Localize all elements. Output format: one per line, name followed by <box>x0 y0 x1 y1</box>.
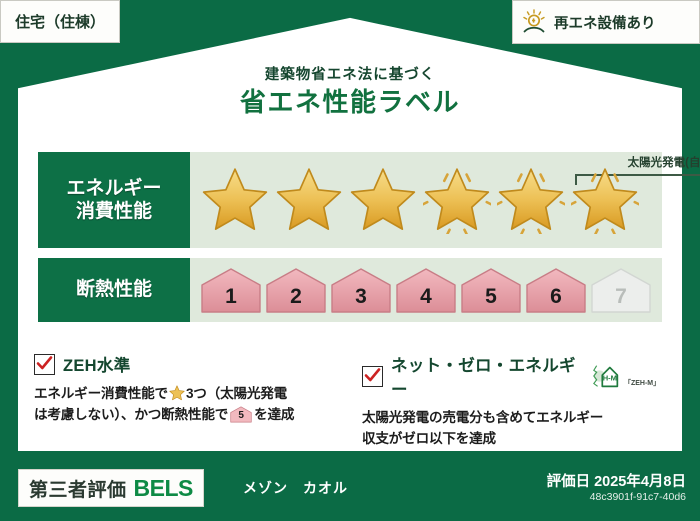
house-inline-icon: 5 <box>230 406 252 423</box>
star-filled <box>346 152 420 248</box>
insulation-performance-body: 1 2 3 4 5 <box>190 258 662 322</box>
net-zero-energy-section: ネット・ゼロ・エネルギー H-M 「ZEH-M」 太陽光発電の売電分も含めてエネ… <box>362 352 658 449</box>
star-filled <box>198 152 272 248</box>
solar-sun-icon <box>521 9 547 35</box>
building-type-badge: 住宅（住棟） <box>0 0 120 43</box>
building-type-label: 住宅（住棟） <box>15 11 105 32</box>
star-filled-pv <box>494 152 568 248</box>
building-name: メゾン カオル <box>243 478 348 498</box>
insulation-grade-badge: 1 <box>200 267 262 314</box>
zeh-standard-section: ZEH水準 エネルギー消費性能で3つ（太陽光発電 は考慮しない）、かつ断熱性能で… <box>34 352 330 425</box>
net-zero-energy-header: ネット・ゼロ・エネルギー H-M 「ZEH-M」 <box>362 352 658 400</box>
zeh-standard-title: ZEH水準 <box>63 352 131 376</box>
energy-performance-row: エネルギー 消費性能 太陽光発電(自家消費)分 <box>38 152 662 248</box>
label-subtitle: 建築物省エネ法に基づく <box>0 63 700 84</box>
star-inline-icon <box>169 385 185 401</box>
star-filled <box>272 152 346 248</box>
evaluation-date: 評価日 2025年4月8日 <box>547 470 686 491</box>
zeh-standard-description: エネルギー消費性能で3つ（太陽光発電 は考慮しない）、かつ断熱性能で5を達成 <box>34 383 330 425</box>
insulation-grade-badge: 5 <box>460 267 522 314</box>
insulation-grade-badge: 4 <box>395 267 457 314</box>
insulation-grade-badge: 6 <box>525 267 587 314</box>
insulation-performance-row: 断熱性能 1 2 3 <box>38 258 662 322</box>
insulation-grade-badge-inactive: 7 <box>590 267 652 314</box>
evaluation-id: 48c3901f-91c7-40d6 <box>590 491 686 503</box>
svg-text:H-M: H-M <box>603 374 617 383</box>
star-rating <box>190 152 662 248</box>
footer-bar: 第三者評価 BELS メゾン カオル 評価日 2025年4月8日 48c3901… <box>0 460 700 521</box>
energy-performance-label: エネルギー 消費性能 <box>38 152 190 248</box>
bels-jp-label: 第三者評価 <box>29 475 127 502</box>
bels-energy-label: 住宅（住棟） 再エネ設備あり 建築物省エネ法に基づく 省エネ性能ラベル <box>0 0 700 521</box>
insulation-performance-label: 断熱性能 <box>38 258 190 322</box>
net-zero-energy-title: ネット・ゼロ・エネルギー <box>391 352 581 400</box>
insulation-grade-badge: 3 <box>330 267 392 314</box>
checkbox-checked-icon[interactable] <box>362 366 383 387</box>
renewable-equipment-label: 再エネ設備あり <box>554 12 656 33</box>
insulation-grade-badge: 2 <box>265 267 327 314</box>
star-filled-pv <box>420 152 494 248</box>
zeh-standard-header: ZEH水準 <box>34 352 330 376</box>
zeh-m-logo-caption: 「ZEH-M」 <box>624 378 658 390</box>
bels-en-label: BELS <box>134 475 193 502</box>
net-zero-energy-description: 太陽光発電の売電分も含めてエネルギー 収支がゼロ以下を達成 <box>362 407 658 449</box>
star-filled-pv <box>568 152 642 248</box>
energy-performance-body: 太陽光発電(自家消費)分 <box>190 152 662 248</box>
bels-certification-badge: 第三者評価 BELS <box>18 469 204 507</box>
insulation-grade-scale: 1 2 3 4 5 <box>190 267 652 314</box>
page-title: 省エネ性能ラベル <box>0 82 700 119</box>
renewable-equipment-badge: 再エネ設備あり <box>512 0 700 44</box>
checkbox-checked-icon[interactable] <box>34 354 55 375</box>
zeh-m-logo-icon: H-M 「ZEH-M」 <box>591 362 658 390</box>
